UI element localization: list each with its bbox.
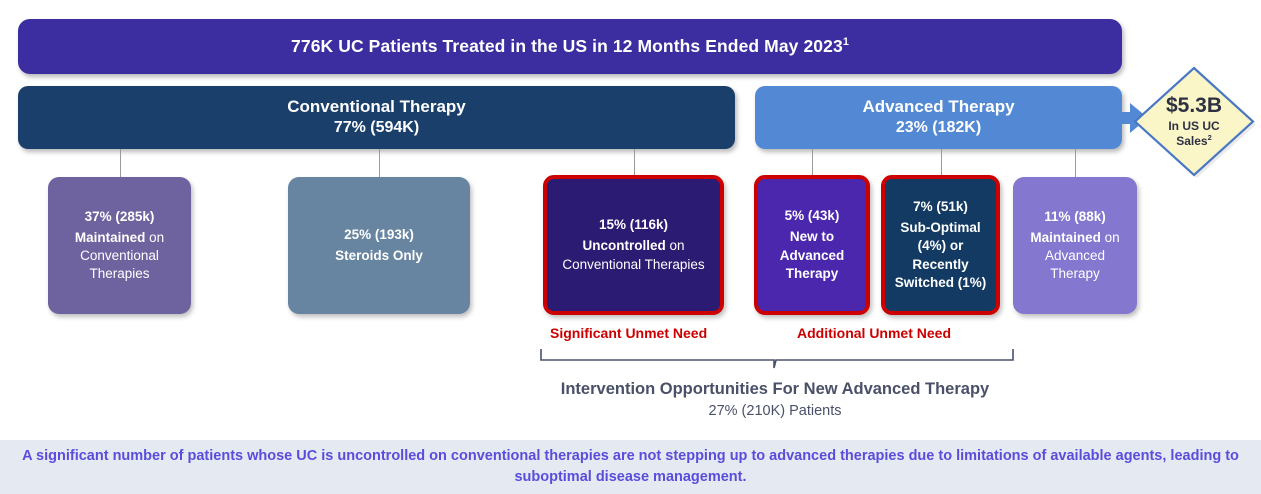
segment-maintained-advanced[interactable]: 11% (88k) Maintained on Advanced Therapy (1013, 177, 1137, 314)
advanced-therapy-name: Advanced Therapy (862, 97, 1014, 118)
diamond-shape-icon (1131, 64, 1257, 179)
segment-maintained-conventional-pct: 37% (285k) (85, 208, 155, 226)
page-title-text: 776K UC Patients Treated in the US in 12… (291, 36, 843, 56)
connector-line-uncontrolled (634, 149, 635, 175)
advanced-therapy-bar[interactable]: Advanced Therapy 23% (182K) (755, 86, 1122, 149)
segment-new-to-advanced-desc-bold: New to Advanced Therapy (780, 229, 845, 280)
intervention-opportunities-subtitle: 27% (210K) Patients (455, 401, 1095, 421)
segment-uncontrolled-conventional[interactable]: 15% (116k) Uncontrolled on Conventional … (543, 175, 724, 315)
footer-text: A significant number of patients whose U… (0, 446, 1261, 488)
connector-line-suboptimal (941, 149, 942, 175)
segment-steroids-only-desc: Steroids Only (335, 247, 423, 265)
segment-uncontrolled-conventional-desc-bold: Uncontrolled (582, 238, 665, 253)
advanced-therapy-stat: 23% (182K) (896, 118, 981, 138)
page-title-banner: 776K UC Patients Treated in the US in 12… (18, 19, 1122, 74)
segment-uncontrolled-conventional-pct: 15% (116k) (599, 216, 668, 234)
segment-maintained-advanced-desc: Maintained on Advanced Therapy (1019, 229, 1131, 284)
segment-steroids-only-desc-bold: Steroids Only (335, 248, 423, 263)
connector-line-maintained-conventional (120, 149, 121, 177)
footer-banner: A significant number of patients whose U… (0, 440, 1261, 494)
segment-maintained-conventional-desc-bold: Maintained (75, 230, 146, 245)
segment-new-to-advanced[interactable]: 5% (43k) New to Advanced Therapy (754, 175, 870, 315)
segment-sub-optimal-or-switched-desc: Sub-Optimal (4%) or Recently Switched (1… (891, 219, 990, 292)
intervention-bracket (538, 348, 1016, 370)
connector-line-maintained-advanced (1075, 149, 1076, 177)
intervention-opportunities-title: Intervention Opportunities For New Advan… (455, 378, 1095, 401)
conventional-therapy-bar[interactable]: Conventional Therapy 77% (594K) (18, 86, 735, 149)
page-title-footnote-marker: 1 (843, 36, 849, 48)
significant-unmet-need-label: Significant Unmet Need (550, 325, 707, 341)
segment-sub-optimal-or-switched[interactable]: 7% (51k) Sub-Optimal (4%) or Recently Sw… (881, 175, 1000, 315)
conventional-therapy-name: Conventional Therapy (287, 97, 466, 118)
connector-line-new-advanced (812, 149, 813, 175)
segment-uncontrolled-conventional-desc: Uncontrolled on Conventional Therapies (553, 237, 714, 273)
us-uc-sales-callout[interactable]: $5.3B In US UC Sales2 (1131, 64, 1257, 179)
conventional-therapy-stat: 77% (594K) (334, 118, 419, 138)
segment-maintained-advanced-desc-bold: Maintained (1030, 230, 1101, 245)
segment-sub-optimal-or-switched-desc-bold: Sub-Optimal (4%) or Recently Switched (1… (895, 220, 987, 290)
connector-line-steroids (379, 149, 380, 177)
segment-new-to-advanced-desc: New to Advanced Therapy (764, 228, 860, 283)
segment-maintained-conventional-desc: Maintained on Conventional Therapies (54, 229, 185, 284)
page-title: 776K UC Patients Treated in the US in 12… (291, 36, 849, 57)
segment-new-to-advanced-pct: 5% (43k) (785, 207, 840, 225)
intervention-opportunities-block: Intervention Opportunities For New Advan… (455, 378, 1095, 421)
additional-unmet-need-label: Additional Unmet Need (797, 325, 951, 341)
segment-steroids-only[interactable]: 25% (193k) Steroids Only (288, 177, 470, 314)
segment-sub-optimal-or-switched-pct: 7% (51k) (913, 198, 968, 216)
segment-maintained-conventional[interactable]: 37% (285k) Maintained on Conventional Th… (48, 177, 191, 314)
segment-steroids-only-pct: 25% (193k) (344, 226, 414, 244)
segment-maintained-advanced-pct: 11% (88k) (1044, 208, 1106, 226)
